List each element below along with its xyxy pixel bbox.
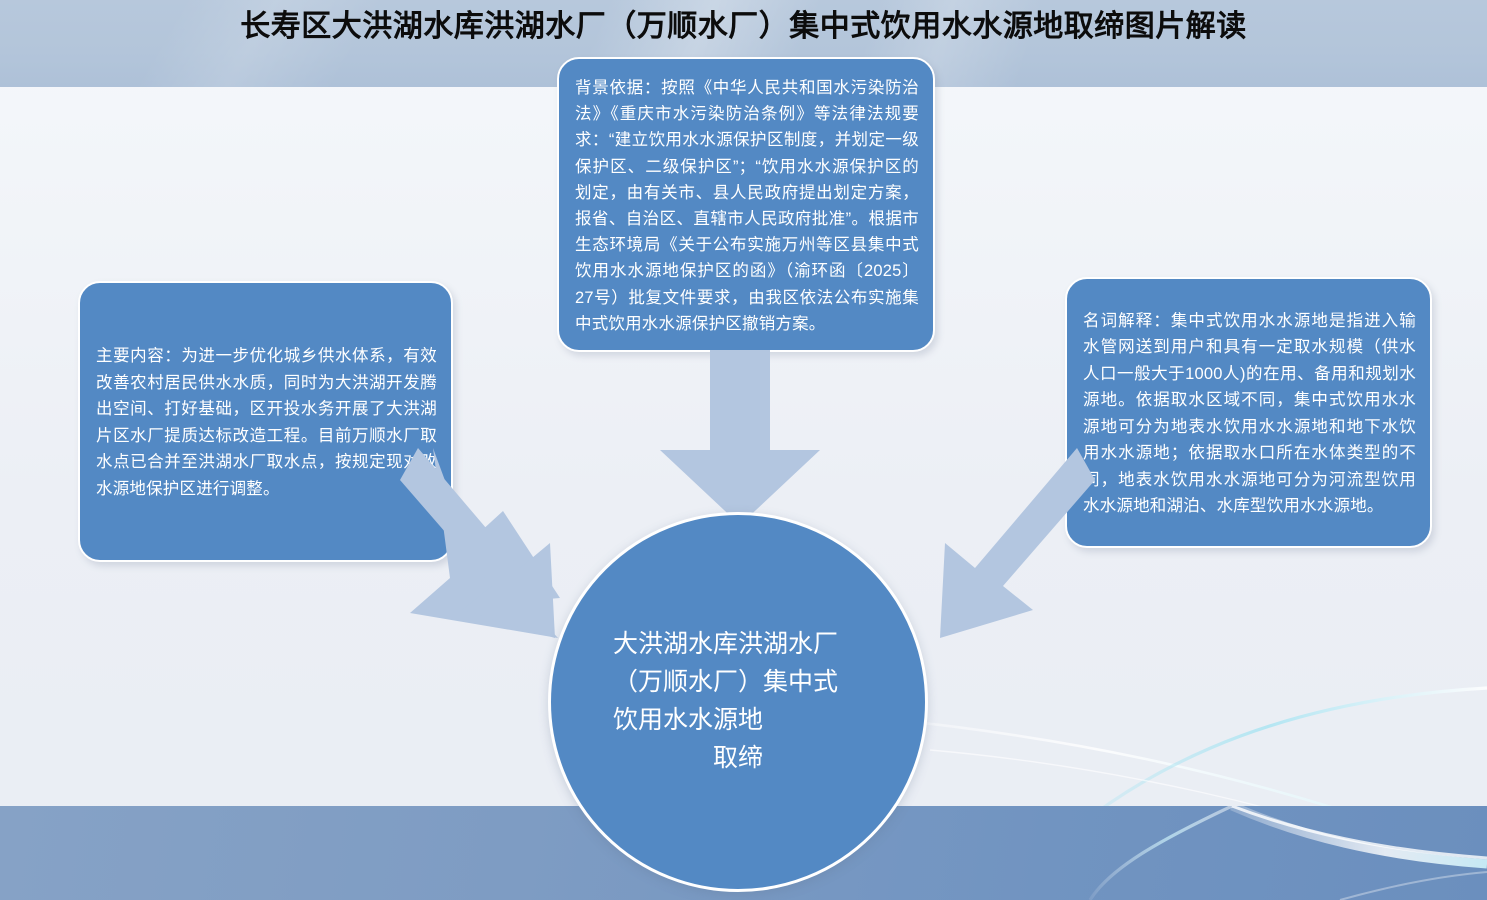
info-box-terminology-text: 名词解释：集中式饮用水水源地是指进入输水管网送到用户和具有一定取水规模（供水人口… — [1083, 308, 1416, 520]
info-box-background-basis-text: 背景依据：按照《中华人民共和国水污染防治法》《重庆市水污染防治条例》等法律法规要… — [575, 75, 919, 337]
page-title: 长寿区大洪湖水库洪湖水厂（万顺水厂）集中式饮用水水源地取缔图片解读 — [0, 6, 1487, 48]
center-topic-circle: 大洪湖水库洪湖水厂（万顺水厂）集中式饮用水水源地取缔 — [548, 512, 928, 892]
info-box-terminology: 名词解释：集中式饮用水水源地是指进入输水管网送到用户和具有一定取水规模（供水人口… — [1065, 277, 1432, 548]
arrow-down-icon — [660, 350, 820, 525]
infographic-canvas: 长寿区大洪湖水库洪湖水厂（万顺水厂）集中式饮用水水源地取缔图片解读 背景依据：按… — [0, 0, 1487, 900]
center-topic-label: 大洪湖水库洪湖水厂（万顺水厂）集中式饮用水水源地取缔 — [613, 626, 863, 778]
info-box-main-content: 主要内容：为进一步优化城乡供水体系，有效改善农村居民供水水质，同时为大洪湖开发腾… — [78, 281, 453, 562]
info-box-background-basis: 背景依据：按照《中华人民共和国水污染防治法》《重庆市水污染防治条例》等法律法规要… — [557, 57, 935, 352]
info-box-main-content-text: 主要内容：为进一步优化城乡供水体系，有效改善农村居民供水水质，同时为大洪湖开发腾… — [96, 343, 437, 502]
arrow-down-left-icon — [880, 438, 1095, 638]
center-line-4: 取缔 — [613, 740, 863, 778]
center-line-1: 大洪湖水库洪湖水 — [613, 631, 813, 658]
